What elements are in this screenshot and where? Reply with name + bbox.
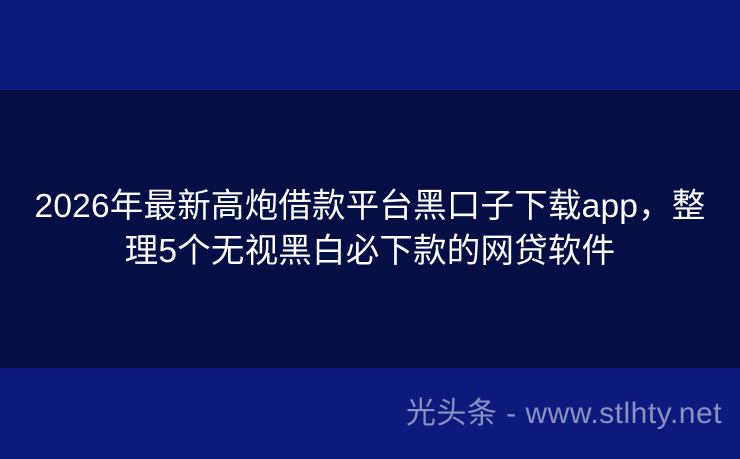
headline-title: 2026年最新高炮借款平台黑口子下载app，整理5个无视黑白必下款的网贷软件 <box>34 184 706 274</box>
cover-image-canvas: 2026年最新高炮借款平台黑口子下载app，整理5个无视黑白必下款的网贷软件 光… <box>0 0 740 459</box>
headline-container: 2026年最新高炮借款平台黑口子下载app，整理5个无视黑白必下款的网贷软件 <box>0 90 740 368</box>
watermark-label: 光头条 - www.stlhty.net <box>406 397 722 431</box>
watermark-container: 光头条 - www.stlhty.net <box>0 368 740 459</box>
background-band-top <box>0 0 740 90</box>
